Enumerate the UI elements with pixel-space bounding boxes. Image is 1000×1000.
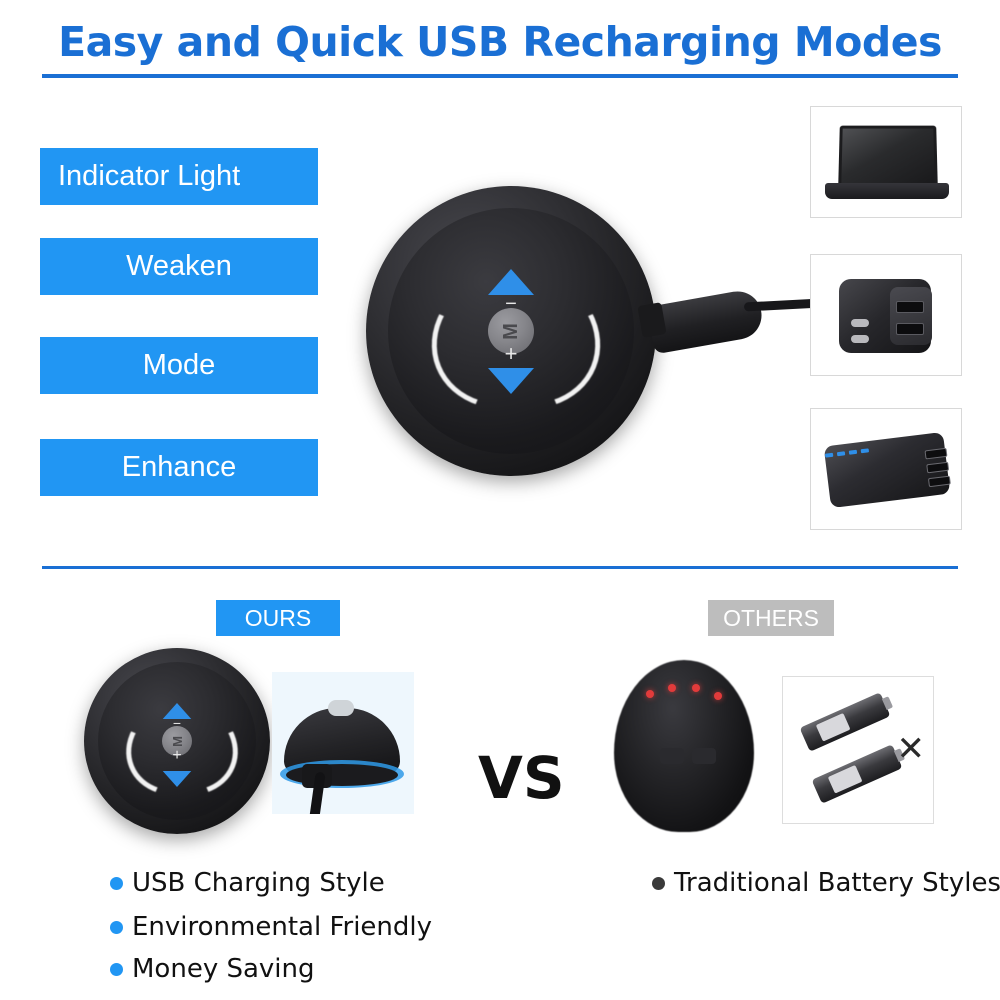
feature-chip-indicator-light: Indicator Light — [40, 148, 318, 205]
page-title: Easy and Quick USB Recharging Modes — [0, 18, 1000, 66]
others-bullet-item: Traditional Battery Styles — [652, 868, 1000, 898]
triangle-down-icon — [163, 771, 192, 787]
ours-bullet-item: Money Saving — [110, 954, 315, 984]
battery-terminal — [882, 696, 893, 710]
other-device-button — [692, 748, 716, 764]
bullet-label: Environmental Friendly — [132, 912, 432, 942]
bullet-dot-icon — [110, 877, 123, 890]
others-tag-label: OTHERS — [723, 605, 819, 632]
ours-charging-photo — [272, 672, 414, 814]
battery-icon — [812, 744, 903, 804]
bullet-label: Money Saving — [132, 954, 315, 984]
ours-device-illustration: − M + — [84, 648, 270, 834]
section-divider — [42, 566, 958, 569]
others-tag: OTHERS — [708, 600, 834, 636]
battery-icon — [800, 692, 891, 752]
page-header: Easy and Quick USB Recharging Modes — [0, 0, 1000, 82]
battery-band — [828, 765, 863, 794]
usb-port-icon — [896, 323, 924, 335]
charging-source-laptop — [810, 106, 962, 218]
led-icon — [668, 684, 676, 692]
usb-port-icon — [896, 301, 924, 313]
mode-button-label: M — [499, 323, 522, 340]
others-device-illustration — [606, 652, 764, 842]
main-device-illustration: − M + — [366, 186, 656, 476]
bullet-label: USB Charging Style — [132, 868, 385, 898]
ours-bullet-item: Environmental Friendly — [110, 912, 432, 942]
led-icon — [714, 692, 722, 700]
feature-chip-mode: Mode — [40, 337, 318, 394]
bullet-dot-icon — [652, 877, 665, 890]
plug-pin-icon — [851, 335, 869, 343]
feature-label: Weaken — [126, 250, 232, 283]
wall-charger-face — [890, 287, 932, 345]
ours-tag-label: OURS — [245, 605, 311, 632]
header-divider — [42, 74, 958, 78]
triangle-up-icon — [488, 269, 534, 295]
feature-chip-weaken: Weaken — [40, 238, 318, 295]
device-top-button — [328, 700, 354, 716]
laptop-screen-icon — [838, 126, 938, 188]
power-bank-ports — [925, 448, 952, 492]
battery-band — [816, 713, 851, 742]
usb-port-icon — [928, 476, 951, 488]
traditional-battery-photo: ✕ — [782, 676, 934, 824]
bullet-label: Traditional Battery Styles — [674, 868, 1000, 898]
mode-button-label: M — [170, 736, 185, 747]
usb-cable-illustration — [640, 282, 820, 372]
usb-port-icon — [925, 448, 948, 460]
feature-label: Mode — [143, 349, 216, 382]
laptop-base-icon — [825, 183, 949, 199]
vs-label: VS — [478, 744, 565, 812]
other-device-body — [614, 660, 754, 832]
cross-mark-icon: ✕ — [897, 729, 926, 769]
plug-pin-icon — [851, 319, 869, 327]
other-device-button — [660, 748, 684, 764]
bullet-dot-icon — [110, 921, 123, 934]
usb-port-icon — [926, 462, 949, 474]
ours-bullet-item: USB Charging Style — [110, 868, 385, 898]
bullet-dot-icon — [110, 963, 123, 976]
ours-tag: OURS — [216, 600, 340, 636]
led-icon — [692, 684, 700, 692]
feature-label: Enhance — [122, 451, 237, 484]
charging-source-wall-charger — [810, 254, 962, 376]
plus-sign: + — [505, 343, 518, 365]
led-icon — [646, 690, 654, 698]
triangle-down-icon — [488, 368, 534, 394]
feature-label: Indicator Light — [58, 160, 240, 193]
plus-sign: + — [172, 748, 181, 764]
feature-chip-enhance: Enhance — [40, 439, 318, 496]
wall-charger-body-icon — [839, 279, 931, 353]
charging-source-power-bank — [810, 408, 962, 530]
